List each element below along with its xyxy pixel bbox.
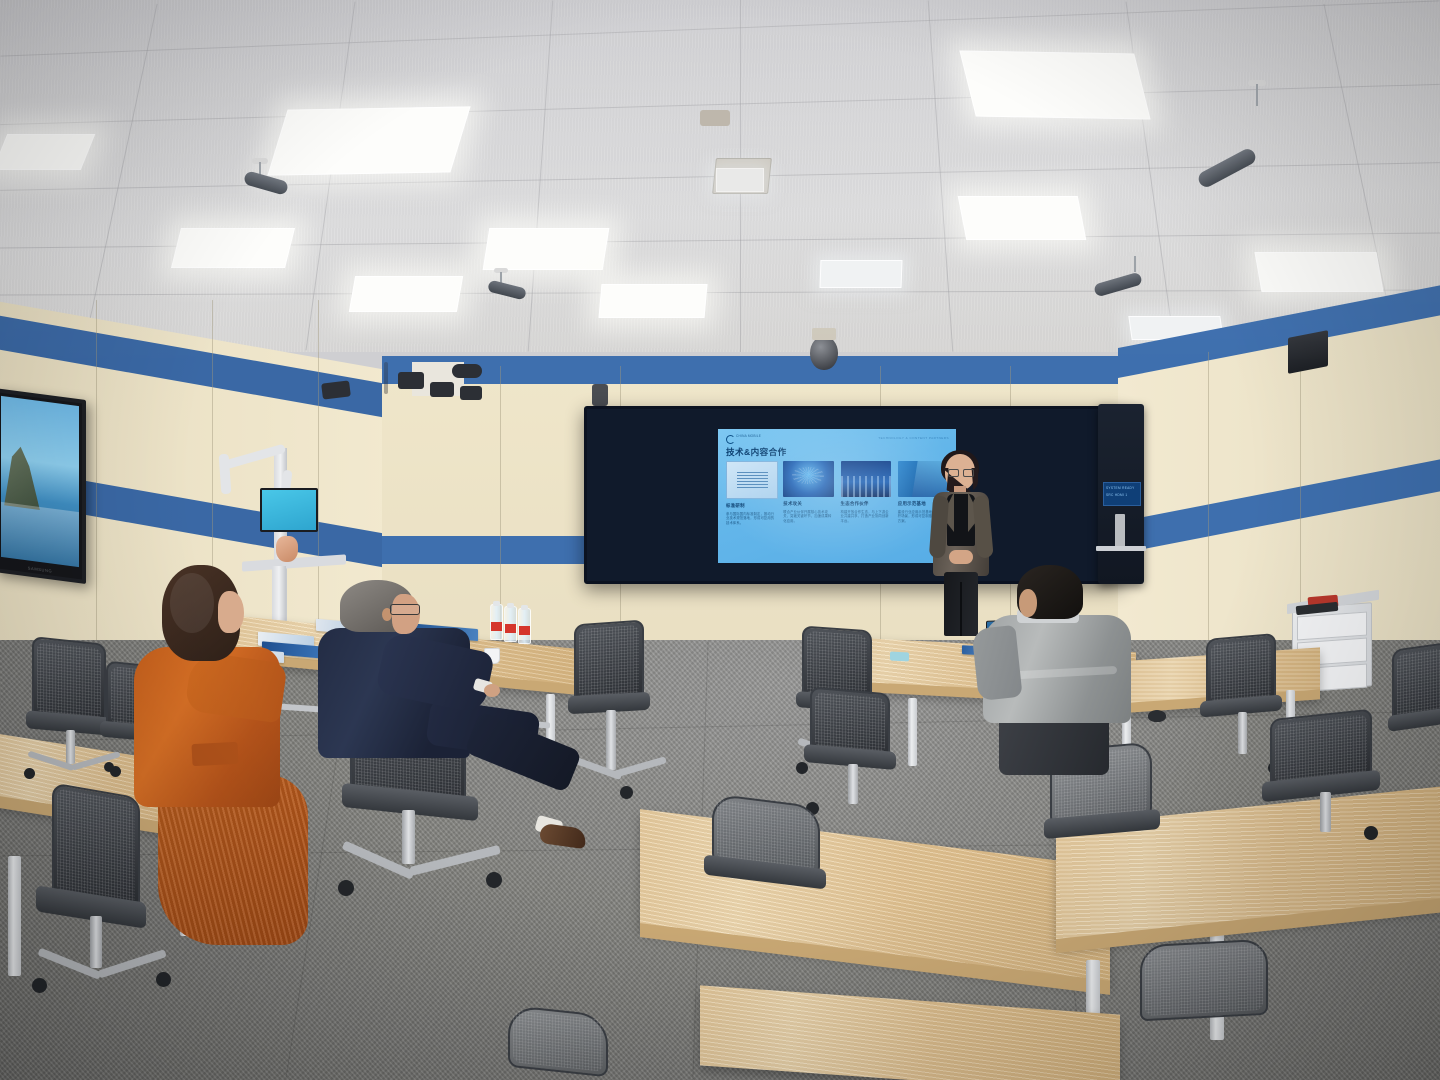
- attendee-man-grey: [975, 565, 1145, 775]
- ceiling-light-panel: [171, 228, 295, 268]
- brand-logo-text: CHINA MOBILE: [736, 434, 761, 438]
- mesh-chair[interactable]: [700, 800, 850, 920]
- slide-card: 生态合作伙伴 构建开放合作生态，与上下游企业共建共享，打造产业协同创新平台。: [841, 461, 891, 526]
- slide-card: 标准研制 参与国际国内标准制定，推动行业技术规范落地，形成可复用的技术体系。: [726, 461, 776, 526]
- wall-display-left-screen: [1, 396, 79, 567]
- chair-caster: [24, 768, 35, 779]
- slide-card-body: 构建开放合作生态，与上下游企业共建共享，打造产业协同创新平台。: [841, 510, 891, 525]
- ceiling-light-panel: [820, 260, 903, 288]
- slide-title: 技术&内容合作: [726, 446, 787, 458]
- attendee-man-navy: [318, 580, 568, 880]
- smoke-detector: [700, 110, 730, 126]
- man-navy-hand: [484, 684, 500, 697]
- ceiling-light-panel: [1254, 252, 1383, 292]
- control-panel-line-2: SRC HDMI 1: [1106, 493, 1138, 498]
- tracking-camera-far-left: [321, 380, 351, 399]
- cart-monitor[interactable]: [260, 488, 318, 532]
- wallpaper-water-reflection: [1, 502, 79, 567]
- wall-stripe-upper-back: [382, 356, 1122, 384]
- smartphone[interactable]: [890, 652, 909, 662]
- wall-stripe-lower-back-left: [382, 536, 588, 564]
- control-panel-screen[interactable]: SYSTEM READY SRC HDMI 1: [1103, 482, 1141, 506]
- chair-post: [66, 730, 75, 764]
- classroom-photo-scene: SAMSUNG CHINA MOBILE TECHNOLOGY & CONTEN…: [0, 0, 1440, 1080]
- eyeglasses-icon: [390, 604, 420, 615]
- woman-jacket-flap: [191, 742, 238, 766]
- presentation-slide: CHINA MOBILE TECHNOLOGY & CONTENT PARTNE…: [718, 429, 956, 563]
- cart-item-object: [276, 536, 298, 562]
- attendee-woman-rust: [130, 565, 330, 945]
- projector-lens-glow: [716, 168, 764, 192]
- chair-post: [90, 916, 102, 968]
- slide-card-heading: 生态合作伙伴: [841, 501, 891, 507]
- document-thumbnail-icon: [726, 461, 778, 499]
- eyeglasses-icon: [948, 469, 959, 477]
- chair-leg: [98, 949, 167, 978]
- mesh-chair[interactable]: [562, 622, 662, 812]
- wall-speaker-left: [384, 362, 388, 394]
- tracking-camera-left: [398, 372, 424, 389]
- man-grey-face-profile: [1019, 589, 1037, 617]
- control-panel-shelf: [1096, 546, 1146, 551]
- wall-display-left[interactable]: SAMSUNG: [0, 388, 86, 584]
- microphone-pendant-rod: [1256, 84, 1258, 106]
- cabinet-drawer[interactable]: [1297, 612, 1367, 641]
- chair-caster: [338, 880, 354, 896]
- ceiling-light-panel: [267, 106, 470, 175]
- microphone-pendant-rod: [1134, 256, 1136, 272]
- slide-card-heading: 技术攻关: [783, 501, 833, 507]
- chair-post: [606, 710, 616, 770]
- tracking-camera-aux: [460, 386, 482, 400]
- woman-face-profile: [218, 591, 244, 633]
- ceiling-light-panel: [0, 134, 95, 170]
- chair-caster: [1364, 826, 1378, 840]
- cart-monitor-screen: [262, 490, 316, 530]
- presenter-hands-clasped: [949, 550, 973, 564]
- ceiling-light-panel: [483, 228, 610, 270]
- slide-card-body: 参与国际国内标准制定，推动行业技术规范落地，形成可复用的技术体系。: [726, 512, 776, 527]
- chair-caster: [156, 972, 171, 987]
- chair-back: [1140, 939, 1268, 1022]
- slide-card-body: 联合产业伙伴开展核心技术攻关，突破关键环节，加速成果转化应用。: [783, 510, 833, 525]
- chair-caster: [32, 978, 47, 993]
- chair-post: [1320, 792, 1331, 832]
- mesh-chair[interactable]: [1258, 714, 1408, 844]
- man-grey-trousers: [999, 715, 1109, 775]
- wallpaper-rock: [4, 445, 40, 511]
- computer-mouse[interactable]: [1148, 710, 1166, 722]
- dome-camera-mount: [812, 328, 836, 340]
- presenter-leg-separation: [960, 582, 962, 636]
- control-panel-slot: [1115, 514, 1125, 550]
- wall-sensor: [592, 384, 608, 406]
- smart-city-icon: [841, 461, 891, 497]
- chair-leg: [611, 756, 667, 778]
- eyeglasses-icon: [963, 469, 974, 477]
- chair-post: [1238, 712, 1247, 754]
- ceiling-light-panel: [958, 196, 1087, 240]
- ptz-dome-camera: [810, 336, 838, 370]
- chair-caster: [104, 762, 114, 772]
- tracking-camera-center: [452, 364, 482, 378]
- wall-av-control-panel[interactable]: SYSTEM READY SRC HDMI 1: [1098, 404, 1144, 584]
- brand-logo-icon: [726, 435, 735, 444]
- man-grey-arm: [971, 625, 1022, 701]
- slide-card-heading: 标准研制: [726, 503, 776, 509]
- tracking-camera-right: [430, 382, 454, 397]
- interactive-flat-panel[interactable]: CHINA MOBILE TECHNOLOGY & CONTENT PARTNE…: [584, 406, 1122, 584]
- table-leg: [8, 856, 21, 976]
- slide-card: 技术攻关 联合产业伙伴开展核心技术攻关，突破关键环节，加速成果转化应用。: [783, 461, 833, 526]
- mesh-chair[interactable]: [1388, 646, 1440, 766]
- woman-hair-highlight: [170, 573, 214, 633]
- mesh-chair[interactable]: [498, 1010, 618, 1080]
- network-sphere-icon: [783, 461, 833, 497]
- chair-caster: [620, 786, 633, 799]
- chair-post: [848, 764, 858, 804]
- slide-card-row: 标准研制 参与国际国内标准制定，推动行业技术规范落地，形成可复用的技术体系。 技…: [726, 461, 948, 526]
- slide-meta-text: TECHNOLOGY & CONTENT PARTNERS: [878, 436, 949, 440]
- chair-back: [508, 1005, 608, 1078]
- mesh-chair[interactable]: [1126, 942, 1306, 1080]
- control-panel-line-1: SYSTEM READY: [1106, 486, 1138, 491]
- ceiling-light-panel: [959, 50, 1150, 119]
